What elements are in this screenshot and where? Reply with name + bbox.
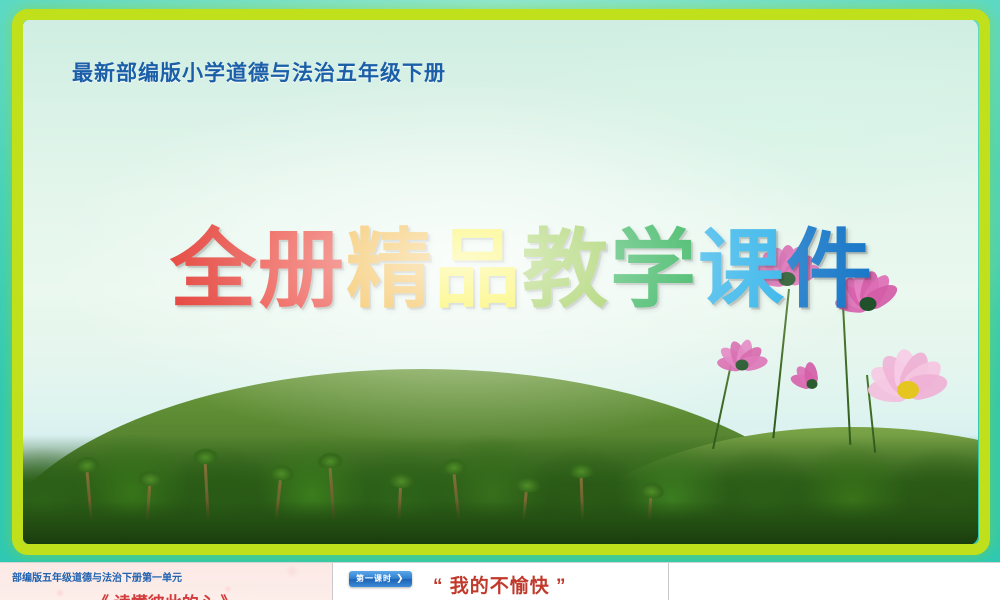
flower-petal [789,372,814,391]
flower-center [779,272,796,286]
flower-petal [778,243,810,283]
unit-label: 部编版五年级道德与法治下册第一单元 [12,569,182,584]
palm-tree [272,467,283,545]
flower-bloom [816,275,920,333]
title-char-3: 品 [434,227,522,313]
flower-petal [868,378,908,402]
palm-tree [579,465,585,545]
flower-petal [866,360,913,400]
palm-fronds [187,441,222,465]
next-slide-right-panel[interactable] [669,563,1000,600]
palm-fronds [435,451,471,476]
flower-bloom [704,343,780,387]
flower-stem [842,305,851,445]
flower-petal [793,363,817,388]
flower-petal [752,265,788,288]
flower-center [860,297,877,311]
flower-petal [803,361,818,384]
title-char-0: 全 [170,227,258,313]
flower-stem [772,289,790,438]
hill-shape [22,369,862,545]
palm-fronds [384,465,419,489]
flower-petal [737,343,765,370]
flower-stem [866,375,876,453]
palm-fronds [68,449,104,474]
palm-fronds [563,455,598,478]
flower-bloom [848,357,968,423]
flower-petal [906,370,950,402]
cloud-shape [662,439,892,473]
flower-center [897,381,919,399]
flower-petal [876,350,918,397]
flower-petal [897,348,934,394]
palm-fronds [634,475,669,499]
palm-tree [451,461,463,545]
palm-tree [646,485,653,545]
palm-tree [396,475,403,545]
cloud-shape [582,461,732,483]
palm-fronds [509,469,545,494]
flower-petal [735,338,755,367]
flower-petal [833,281,871,312]
title-char-1: 册 [258,227,346,313]
cloud-shape [782,463,972,489]
flower-petal [840,273,875,310]
flower-petal [850,269,877,307]
palm-fronds [312,445,347,469]
palm-tree [144,473,152,545]
subject-line: 最新部编版小学道德与法治五年级下册 [72,57,446,87]
next-slide-left-panel[interactable]: 部编版五年级道德与法治下册第一单元 《 读懂彼此的心 》 [0,563,333,600]
flower-petal [757,247,794,285]
flower-petal [900,354,947,399]
chevron-right-icon: ❯ [396,574,405,583]
flower-petal [864,280,902,312]
palm-tree [520,479,529,545]
jungle-canopy [22,435,978,545]
flower-petal [767,245,795,282]
flower-petal [867,291,903,312]
period-badge-label: 第一课时 [356,573,392,584]
sky-gradient [22,335,978,545]
flower-petal [784,260,822,288]
flower-bloom [732,249,842,309]
flower-petal [752,254,792,287]
flower-stem [712,355,734,449]
foreground-grass [22,501,978,545]
next-slide-preview[interactable]: 部编版五年级道德与法治下册第一单元 《 读懂彼此的心 》 第一课时 ❯ “ 我的… [0,562,1000,600]
flower-center [807,379,818,389]
flower-petal [741,354,769,372]
palm-tree [328,455,337,545]
palm-tree [203,451,211,545]
slide-inner-panel: 最新部编版小学道德与法治五年级下册 全册精品教学课件 [22,19,978,545]
title-char-7: 件 [786,227,874,313]
flower-petal [835,294,869,313]
title-char-4: 教 [522,227,610,313]
next-slide-center-panel[interactable]: 第一课时 ❯ “ 我的不愉快 ” [333,563,669,600]
title-slide: 最新部编版小学道德与法治五年级下册 全册精品教学课件 [0,0,1000,562]
flower-petal [716,355,742,372]
period-badge[interactable]: 第一课时 ❯ [349,571,412,587]
lesson-title: 《 读懂彼此的心 》 [92,589,237,600]
flower-petal [892,348,920,391]
palm-tree [85,459,95,545]
title-char-5: 学 [610,227,698,313]
flower-petal [861,271,895,309]
hill-shape [542,427,978,545]
flower-petal [778,245,797,280]
page-title: 全册精品教学课件 [22,227,978,313]
tropical-landscape-image [22,335,978,545]
palm-fronds [133,463,168,487]
flower-center [736,360,749,371]
lesson-quote: “ 我的不愉快 ” [433,571,567,598]
flower-bud [784,367,840,401]
title-char-2: 精 [346,227,434,313]
slideshow-root: 最新部编版小学道德与法治五年级下册 全册精品教学课件 部编版五年级道德与法治下册… [0,0,1000,600]
flower-petal [717,343,746,370]
flower-petal [859,270,881,305]
cosmos-flowers-image [670,235,970,455]
title-char-6: 课 [698,227,786,313]
flower-petal [781,250,818,285]
palm-fronds [263,457,299,482]
flower-petal [727,339,749,367]
